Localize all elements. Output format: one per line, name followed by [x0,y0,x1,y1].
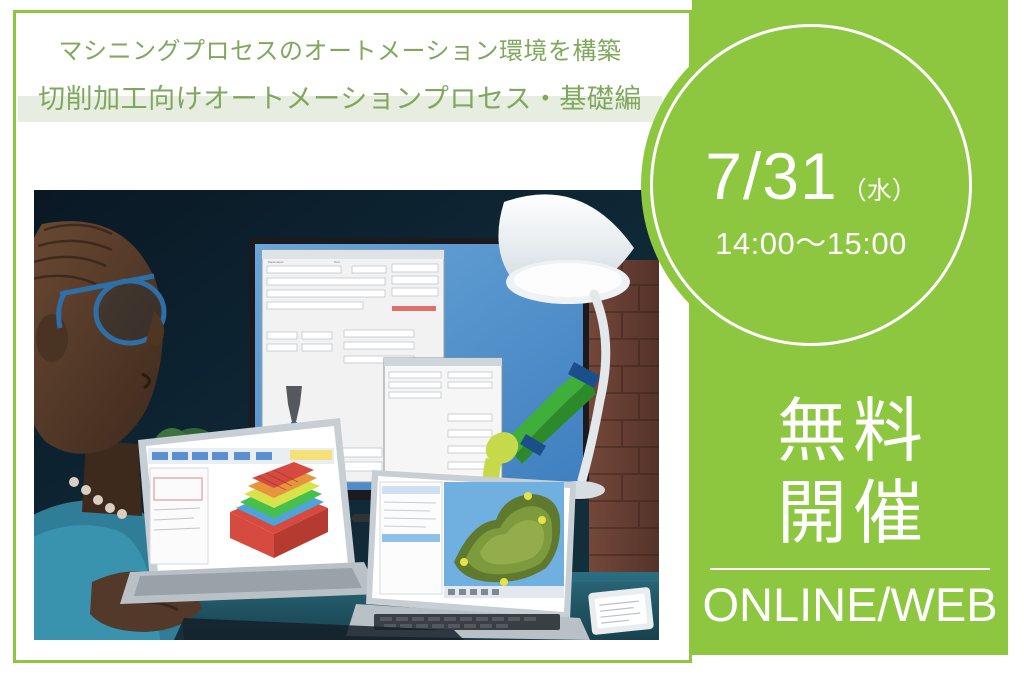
title-block: マシニングプロセスのオートメーション環境を構築 切削加工向けオートメーションプロ… [16,34,664,120]
delivery-format-label: ONLINE/WEB [692,576,1008,634]
promo-block: 無料 開催 ONLINE/WEB [692,390,1008,634]
hero-photo: Parameters Tool [34,190,659,640]
title-line2-wrapper: 切削加工向けオートメーションプロセス・基礎編 [16,78,664,120]
svg-text:Tool: Tool [334,260,340,264]
page-title-subtitle: マシニングプロセスのオートメーション環境を構築 [16,34,664,70]
event-day-of-week: （水） [842,176,917,206]
svg-text:Parameters: Parameters [268,260,284,264]
webinar-banner: マシニングプロセスのオートメーション環境を構築 切削加工向けオートメーションプロ… [0,0,1024,680]
date-badge: 7/31 （水） 14:00〜15:00 [651,24,971,346]
event-date: 7/31 [705,140,837,212]
page-title-main: 切削加工向けオートメーションプロセス・基礎編 [16,78,664,120]
event-time: 14:00〜15:00 [715,224,907,264]
free-label-line1: 無料 [692,390,1008,472]
promo-divider [710,568,990,570]
free-label-line2: 開催 [692,472,1008,554]
date-main-row: 7/31 （水） [705,140,916,212]
